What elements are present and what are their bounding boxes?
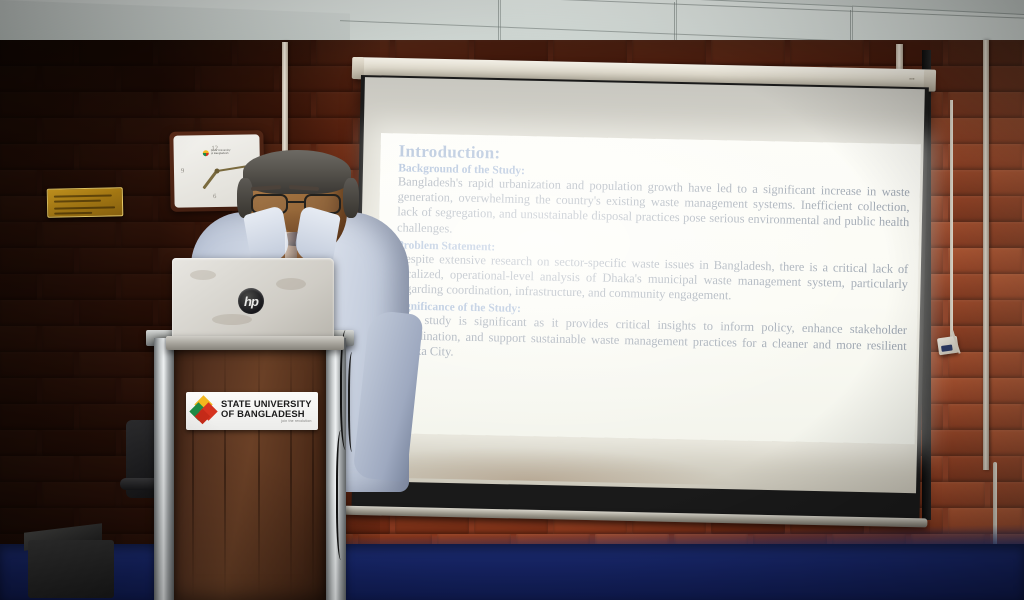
floor-equipment <box>28 540 114 598</box>
clock-numeral-9: 9 <box>181 167 184 174</box>
clock-numeral-12: 12 <box>211 145 218 152</box>
podium-rail-left <box>154 338 174 600</box>
presenter-hair-side-right <box>343 178 359 218</box>
hp-logo-icon: hp <box>238 288 264 314</box>
projected-slide: Introduction: Background of the Study: B… <box>375 133 921 444</box>
podium: STATE UNIVERSITY OF BANGLADESH join the … <box>148 330 353 600</box>
laptop-base <box>166 336 344 350</box>
device-indicator <box>941 344 953 351</box>
device-cable <box>950 100 953 340</box>
plaque-text-line <box>54 200 101 203</box>
clock-logo-icon <box>203 150 209 156</box>
podium-university-sign: STATE UNIVERSITY OF BANGLADESH join the … <box>186 392 318 430</box>
podium-cable <box>348 352 358 452</box>
hp-logo-text: hp <box>244 295 258 308</box>
wall-conduit <box>983 40 989 470</box>
podium-front-panel <box>170 344 330 600</box>
podium-sign-text: STATE UNIVERSITY OF BANGLADESH join the … <box>221 399 312 423</box>
plaque-text-line <box>54 206 115 209</box>
slide-text-block: Introduction: Background of the Study: B… <box>394 141 910 369</box>
podium-sign-tagline: join the revolution <box>221 420 312 423</box>
slide-body-significance: This study is significant as it provides… <box>394 313 907 369</box>
wall-plaque <box>47 187 124 218</box>
clock-brand-line2: of Bangladesh <box>211 153 231 156</box>
hp-laptop[interactable]: hp <box>172 258 334 358</box>
state-university-of-bangladesh-diamond-logo <box>191 397 217 425</box>
plaque-text-line <box>54 194 112 197</box>
screen-stain <box>390 444 738 486</box>
plaque-text-line <box>54 212 92 214</box>
podium-cable <box>336 430 348 560</box>
laptop-lid: hp <box>172 258 334 338</box>
projection-screen: ▪▪▪ Introduction: Background of the Stud… <box>355 57 935 517</box>
slide-body-background: Bangladesh's rapid urbanization and popu… <box>397 174 910 246</box>
glasses-bridge <box>288 201 304 203</box>
presentation-photo-scene: ▪▪▪ Introduction: Background of the Stud… <box>0 0 1024 600</box>
podium-sign-line2: OF BANGLADESH <box>221 409 312 419</box>
roller-brand-label: ▪▪▪ <box>909 76 915 81</box>
